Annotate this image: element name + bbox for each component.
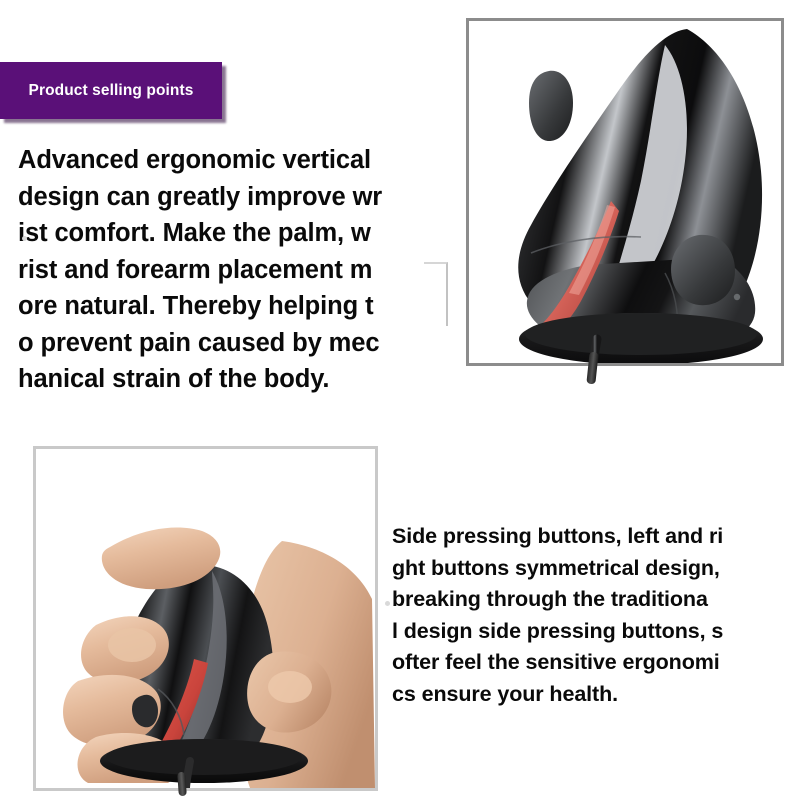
fingernail <box>268 671 312 703</box>
thumbnail <box>108 628 156 662</box>
ergonomic-design-paragraph: Advanced ergonomic vertical design can g… <box>18 142 438 398</box>
mouse-product-photo <box>466 18 784 366</box>
side-buttons-paragraph: Side pressing buttons, left and ri ght b… <box>392 521 787 710</box>
frame-artifact <box>424 262 448 326</box>
mouse-in-hand-illustration <box>36 449 375 788</box>
product-selling-points-banner: Product selling points <box>0 62 222 119</box>
mouse-cable-overflow <box>586 352 598 385</box>
mouse-base-inner <box>106 739 302 775</box>
side-pressing-button <box>529 71 573 141</box>
mouse-cable-overflow <box>177 772 187 796</box>
status-dot <box>734 294 740 300</box>
banner-label: Product selling points <box>29 82 194 100</box>
thumb-rest-button <box>671 235 735 305</box>
mouse-product-illustration <box>469 21 781 363</box>
frame-artifact-dot <box>385 601 390 606</box>
mouse-in-hand-photo <box>33 446 378 791</box>
frame-artifact-dot <box>22 236 27 241</box>
mouse-base-inner <box>525 313 757 355</box>
mouse-cable <box>186 761 190 788</box>
